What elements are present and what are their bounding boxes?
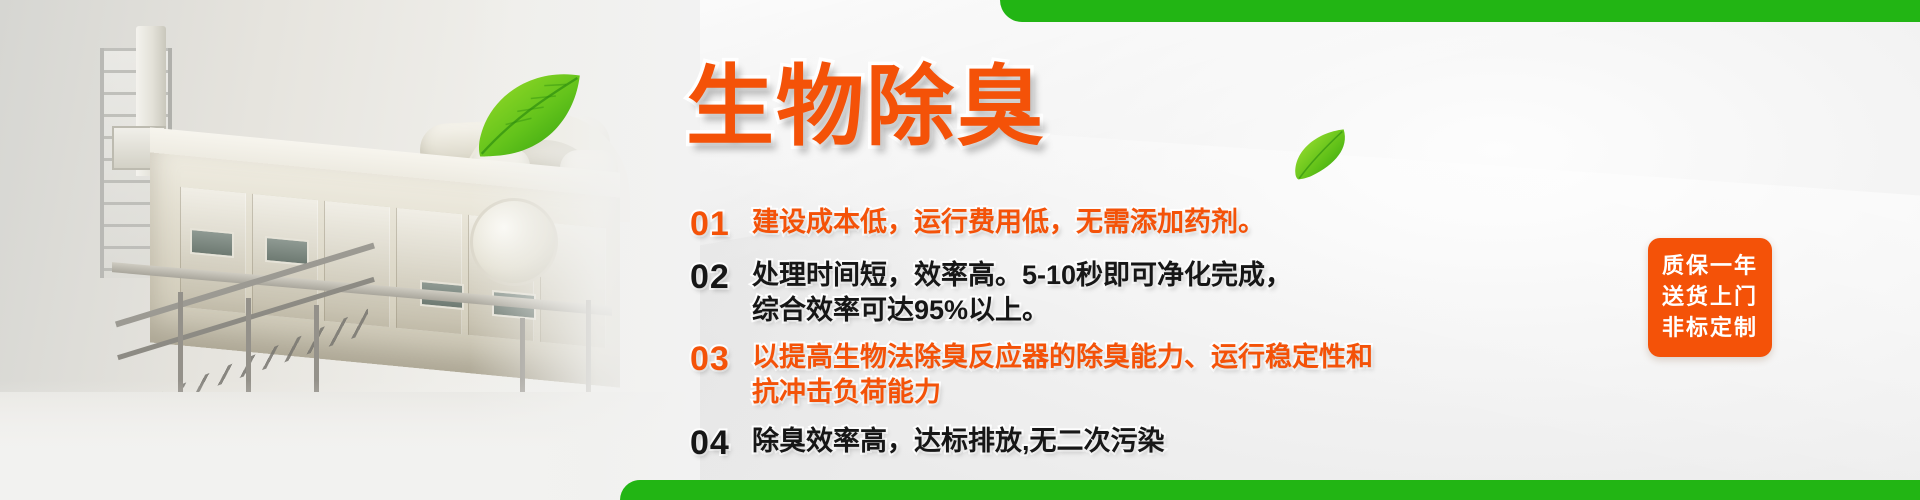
list-item: 03 以提高生物法除臭反应器的除臭能力、运行稳定性和 抗冲击负荷能力 bbox=[690, 340, 1490, 410]
hall-panel bbox=[396, 208, 462, 334]
feature-list: 01 建设成本低，运行费用低，无需添加药剂。 02 处理时间短，效率高。5-10… bbox=[690, 205, 1490, 474]
green-bar-top bbox=[1000, 0, 1920, 22]
hall-window bbox=[190, 228, 234, 258]
list-item-number: 02 bbox=[690, 258, 752, 296]
list-item-label: 处理时间短，效率高。5-10秒即可净化完成， 综合效率可达95%以上。 bbox=[752, 258, 1292, 328]
list-item-number: 03 bbox=[690, 340, 752, 378]
equipment-photo bbox=[0, 0, 700, 500]
list-item-number: 04 bbox=[690, 424, 752, 462]
list-item: 04 除臭效率高，达标排放,无二次污染 bbox=[690, 424, 1490, 462]
leaf-icon bbox=[1286, 126, 1356, 182]
hall-panel bbox=[324, 201, 390, 327]
hall-window bbox=[265, 236, 309, 266]
badge-line-custom: 非标定制 bbox=[1658, 312, 1762, 343]
list-item-label: 以提高生物法除臭反应器的除臭能力、运行稳定性和 抗冲击负荷能力 bbox=[752, 340, 1373, 410]
badge-line-delivery: 送货上门 bbox=[1658, 281, 1762, 312]
service-badge: 质保一年 送货上门 非标定制 bbox=[1648, 238, 1772, 357]
green-bar-bottom bbox=[620, 480, 1920, 500]
badge-line-warranty: 质保一年 bbox=[1658, 250, 1762, 281]
list-item: 01 建设成本低，运行费用低，无需添加药剂。 bbox=[690, 205, 1490, 243]
list-item-label: 除臭效率高，达标排放,无二次污染 bbox=[752, 424, 1165, 459]
list-item: 02 处理时间短，效率高。5-10秒即可净化完成， 综合效率可达95%以上。 bbox=[690, 258, 1490, 328]
page-title: 生物除臭 bbox=[686, 62, 1046, 152]
list-item-number: 01 bbox=[690, 205, 752, 243]
promo-banner: 生物除臭 01 建设成本低，运行费用低，无需添加药剂。 02 处理时间短，效率高… bbox=[0, 0, 1920, 500]
list-item-label: 建设成本低，运行费用低，无需添加药剂。 bbox=[752, 205, 1265, 240]
